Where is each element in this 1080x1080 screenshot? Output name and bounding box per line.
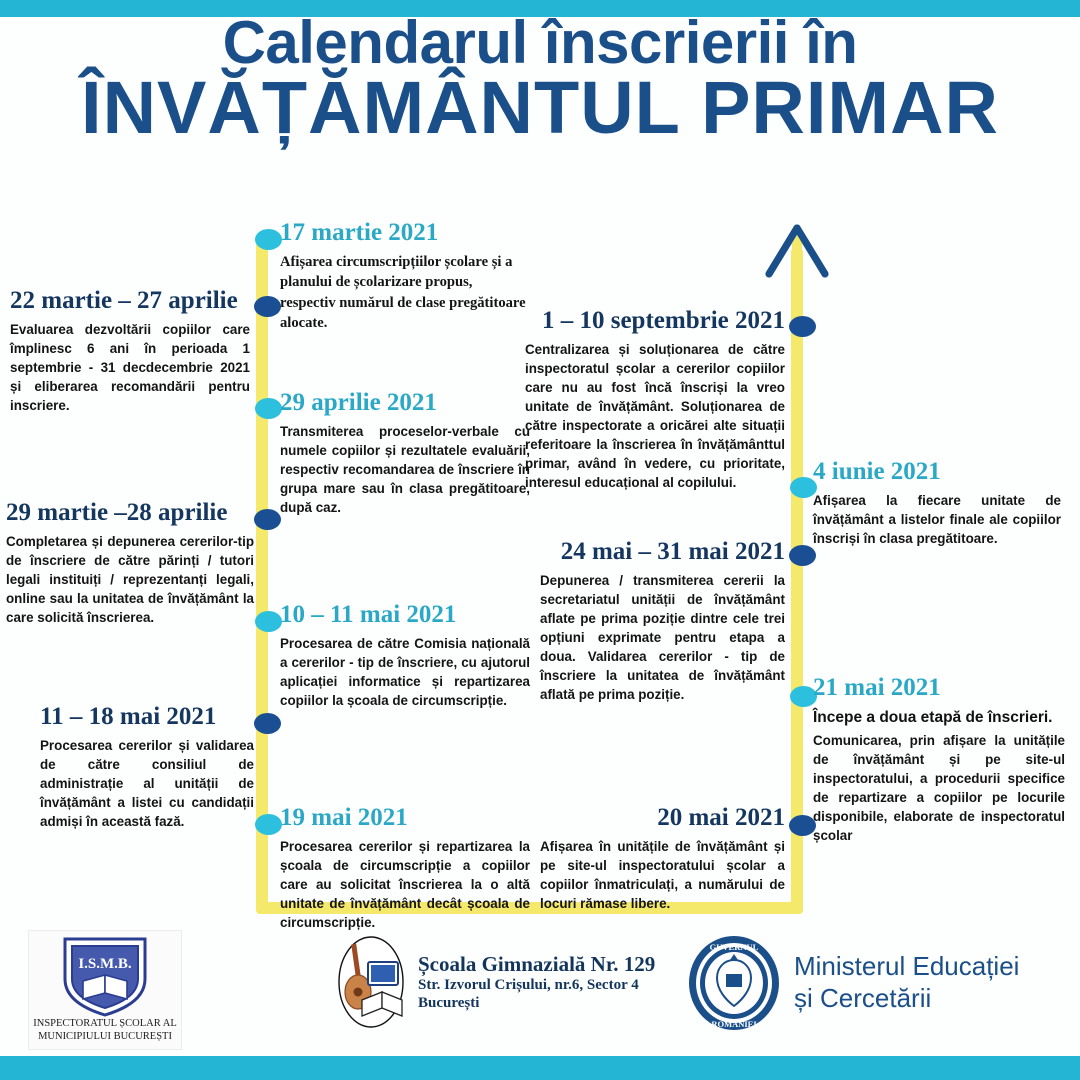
timeline-entry-4-iunie: 4 iunie 2021 Afișarea la fiecare unitate…	[813, 459, 1061, 548]
ministry-block: GUVERNUL ROMÂNIEI Ministerul Educației ș…	[686, 934, 1019, 1032]
entry-date: 29 martie –28 aprilie	[6, 500, 254, 526]
entry-body: Afișarea în unitățile de învățământ și p…	[540, 837, 785, 913]
entry-body: Procesarea de către Comisia națională a …	[280, 634, 530, 710]
svg-text:GUVERNUL: GUVERNUL	[710, 942, 759, 952]
timeline-dot-17-martie	[255, 229, 282, 250]
entry-date: 17 martie 2021	[280, 220, 530, 246]
svg-text:I.S.M.B.: I.S.M.B.	[78, 956, 132, 972]
ministry-name-line-1: Ministerul Educației	[794, 951, 1019, 983]
entry-body: Centralizarea și soluționarea de către i…	[525, 340, 785, 492]
timeline-entry-24-31-mai: 24 mai – 31 mai 2021 Depunerea / transmi…	[540, 539, 785, 704]
ismb-caption-line-1: INSPECTORATUL ȘCOLAR AL	[29, 1017, 181, 1030]
timeline-entry-20-mai: 20 mai 2021 Afișarea în unitățile de înv…	[540, 805, 785, 913]
entry-date: 19 mai 2021	[280, 805, 530, 831]
ismb-shield-icon: I.S.M.B.	[57, 935, 153, 1019]
title-line-2: ÎNVĂȚĂMÂNTUL PRIMAR	[0, 72, 1080, 143]
timeline-dot-20-mai	[789, 815, 816, 836]
romania-government-seal-icon: GUVERNUL ROMÂNIEI	[686, 934, 782, 1032]
timeline-dot-1-10-septembrie	[789, 316, 816, 337]
page-title: Calendarul înscrierii în ÎNVĂȚĂMÂNTUL PR…	[0, 14, 1080, 143]
timeline-entry-29-aprilie: 29 aprilie 2021 Transmiterea proceselor-…	[280, 390, 530, 517]
timeline-dot-11-18-mai	[254, 713, 281, 734]
timeline-dot-24-31-mai	[789, 545, 816, 566]
school-block: Școala Gimnazială Nr. 129 Str. Izvorul C…	[332, 934, 655, 1030]
entry-body: Afișarea la fiecare unitate de învățămân…	[813, 491, 1061, 548]
entry-body: Evaluarea dezvoltării copiilor care împl…	[10, 320, 250, 415]
entry-date: 29 aprilie 2021	[280, 390, 530, 416]
entry-body: Depunerea / transmiterea cererii la secr…	[540, 571, 785, 704]
entry-date: 10 – 11 mai 2021	[280, 602, 530, 628]
entry-body: Afișarea circumscripțiilor școlare și a …	[280, 252, 530, 333]
entry-date: 22 martie – 27 aprilie	[10, 288, 250, 314]
timeline-dot-19-mai	[255, 814, 282, 835]
entry-body: Procesarea cererilor și validarea de căt…	[40, 736, 254, 831]
entry-date: 11 – 18 mai 2021	[40, 704, 254, 730]
ministry-name-line-2: și Cercetării	[794, 983, 1019, 1015]
ismb-logo: I.S.M.B. INSPECTORATUL ȘCOLAR AL MUNICIP…	[28, 930, 182, 1050]
timeline-entry-22-martie-27-aprilie: 22 martie – 27 aprilie Evaluarea dezvolt…	[10, 288, 250, 415]
ismb-caption: INSPECTORATUL ȘCOLAR AL MUNICIPIULUI BUC…	[29, 1017, 181, 1043]
timeline-dot-29-martie-28-aprilie	[254, 509, 281, 530]
entry-date: 1 – 10 septembrie 2021	[525, 308, 785, 334]
timeline-entry-17-martie: 17 martie 2021 Afișarea circumscripțiilo…	[280, 220, 530, 333]
entry-date: 20 mai 2021	[540, 805, 785, 831]
entry-body: Începe a doua etapă de înscrieri. Comuni…	[813, 707, 1065, 845]
timeline-entry-11-18-mai: 11 – 18 mai 2021 Procesarea cererilor și…	[40, 704, 254, 831]
timeline-entry-10-11-mai: 10 – 11 mai 2021 Procesarea de către Com…	[280, 602, 530, 710]
entry-body: Completarea și depunerea cererilor-tip d…	[6, 532, 254, 627]
school-text: Școala Gimnazială Nr. 129 Str. Izvorul C…	[418, 952, 655, 1013]
up-arrow-icon	[763, 222, 831, 294]
svg-text:ROMÂNIEI: ROMÂNIEI	[711, 1019, 757, 1029]
timeline-dot-29-aprilie	[255, 398, 282, 419]
entry-date: 24 mai – 31 mai 2021	[540, 539, 785, 565]
entry-date: 4 iunie 2021	[813, 459, 1061, 485]
infographic-poster: Calendarul înscrierii în ÎNVĂȚĂMÂNTUL PR…	[0, 0, 1080, 1080]
timeline-entry-29-martie-28-aprilie: 29 martie –28 aprilie Completarea și dep…	[6, 500, 254, 627]
timeline-left-line	[256, 238, 268, 914]
entry-body: Transmiterea proceselor-verbale cu numel…	[280, 422, 530, 517]
school-address-line-2: București	[418, 994, 655, 1012]
footer: I.S.M.B. INSPECTORATUL ȘCOLAR AL MUNICIP…	[0, 920, 1080, 1056]
entry-date: 21 mai 2021	[813, 675, 1065, 701]
timeline-dot-10-11-mai	[255, 611, 282, 632]
school-address-line-1: Str. Izvorul Crișului, nr.6, Sector 4	[418, 976, 655, 994]
timeline-entry-19-mai: 19 mai 2021 Procesarea cererilor și repa…	[280, 805, 530, 932]
ismb-caption-line-2: MUNICIPIULUI BUCUREȘTI	[29, 1030, 181, 1043]
ministry-name: Ministerul Educației și Cercetării	[794, 951, 1019, 1014]
entry-body: Procesarea cererilor și repartizarea la …	[280, 837, 530, 932]
timeline-dot-22-martie-27-aprilie	[254, 296, 281, 317]
school-guitar-computer-book-icon	[332, 934, 410, 1030]
entry-lead: Începe a doua etapă de înscrieri.	[813, 707, 1065, 729]
timeline-entry-1-10-septembrie: 1 – 10 septembrie 2021 Centralizarea și …	[525, 308, 785, 493]
timeline-entry-21-mai: 21 mai 2021 Începe a doua etapă de înscr…	[813, 675, 1065, 845]
title-line-1: Calendarul înscrierii în	[0, 14, 1080, 72]
bottom-accent-bar	[0, 1056, 1080, 1080]
school-name: Școala Gimnazială Nr. 129	[418, 952, 655, 976]
entry-body-text: Comunicarea, prin afișare la unitățile d…	[813, 733, 1065, 843]
